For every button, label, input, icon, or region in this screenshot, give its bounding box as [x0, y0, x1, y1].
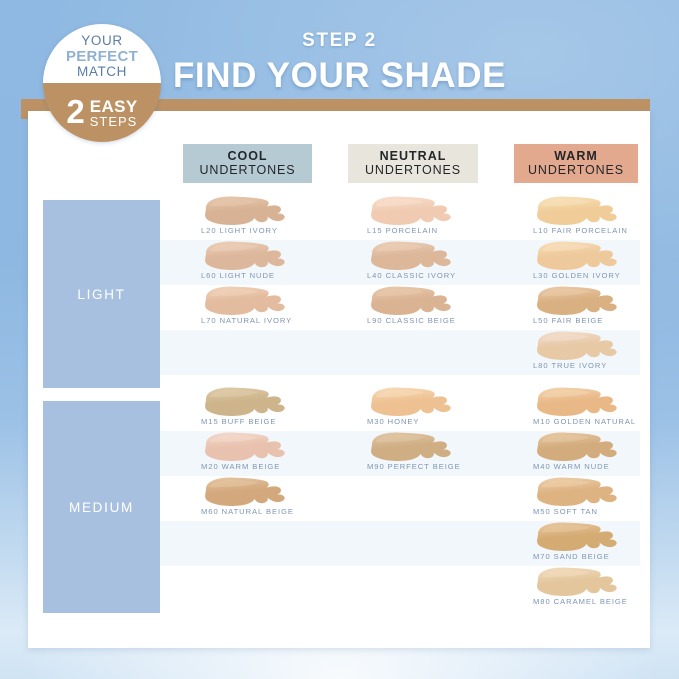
depth-label-medium: MEDIUM [69, 500, 134, 515]
shade-cell[interactable]: L20 LIGHT IVORY [160, 195, 320, 240]
shade-swatch-smear [528, 196, 624, 226]
shade-cell[interactable]: L15 PORCELAIN [326, 195, 486, 240]
shade-swatch-smear [196, 477, 292, 507]
shade-cell[interactable]: L50 FAIR BEIGE [492, 285, 652, 330]
shade-cell[interactable]: L40 CLASSIC IVORY [326, 240, 486, 285]
shade-cell[interactable]: L90 CLASSIC BEIGE [326, 285, 486, 330]
shade-name-label: M60 NATURAL BEIGE [201, 507, 351, 516]
shade-swatch-smear [196, 241, 292, 271]
shade-cell[interactable]: M80 CARAMEL BEIGE [492, 566, 652, 611]
shade-name-label: M80 CARAMEL BEIGE [533, 597, 679, 606]
shade-name-label: M40 WARM NUDE [533, 462, 679, 471]
shade-grid-medium: M15 BUFF BEIGEM30 HONEYM10 GOLDEN NATURA… [160, 386, 640, 611]
shade-swatch[interactable] [362, 241, 458, 271]
shade-swatch-smear [362, 286, 458, 316]
shade-cell[interactable]: M30 HONEY [326, 386, 486, 431]
shade-swatch-smear [196, 432, 292, 462]
shade-row: M70 SAND BEIGE [160, 521, 640, 566]
badge-top-half: YOUR PERFECT MATCH [43, 24, 161, 83]
shade-cell[interactable]: L10 FAIR PORCELAIN [492, 195, 652, 240]
shade-finder-infographic: STEP 2 FIND YOUR SHADE YOUR PERFECT MATC… [0, 0, 679, 679]
shade-row: M80 CARAMEL BEIGE [160, 566, 640, 611]
shade-cell[interactable]: M60 NATURAL BEIGE [160, 476, 320, 521]
shade-row: L60 LIGHT NUDEL40 CLASSIC IVORYL30 GOLDE… [160, 240, 640, 285]
shade-swatch[interactable] [362, 432, 458, 462]
shade-cell[interactable]: M15 BUFF BEIGE [160, 386, 320, 431]
shade-cell[interactable]: M70 SAND BEIGE [492, 521, 652, 566]
shade-swatch[interactable] [196, 241, 292, 271]
shade-swatch[interactable] [528, 477, 624, 507]
shade-swatch[interactable] [196, 286, 292, 316]
shade-cell[interactable]: M90 PERFECT BEIGE [326, 431, 486, 476]
shade-swatch[interactable] [362, 196, 458, 226]
shade-swatch[interactable] [528, 196, 624, 226]
shade-swatch-smear [196, 286, 292, 316]
shade-row: L70 NATURAL IVORYL90 CLASSIC BEIGEL50 FA… [160, 285, 640, 330]
shade-cell[interactable]: M40 WARM NUDE [492, 431, 652, 476]
shade-cell[interactable]: L60 LIGHT NUDE [160, 240, 320, 285]
shade-swatch[interactable] [528, 331, 624, 361]
shade-swatch-smear [362, 196, 458, 226]
shade-swatch-smear [528, 387, 624, 417]
shade-swatch-smear [196, 387, 292, 417]
shade-row: M20 WARM BEIGEM90 PERFECT BEIGEM40 WARM … [160, 431, 640, 476]
depth-block-medium: MEDIUM [43, 401, 160, 613]
badge-step-count: 2 [66, 95, 84, 128]
shade-swatch-smear [528, 567, 624, 597]
shade-swatch[interactable] [528, 387, 624, 417]
depth-label-light: LIGHT [77, 287, 125, 302]
shade-swatch[interactable] [528, 432, 624, 462]
badge-bottom-half: 2 EASY STEPS [43, 83, 161, 142]
shade-row: M60 NATURAL BEIGEM50 SOFT TAN [160, 476, 640, 521]
shade-name-label: M50 SOFT TAN [533, 507, 679, 516]
column-header-cool-sub: UNDERTONES [199, 164, 295, 177]
shade-name-label: L50 FAIR BEIGE [533, 316, 679, 325]
shade-swatch[interactable] [362, 286, 458, 316]
badge-line-your: YOUR [81, 34, 122, 48]
shade-name-label: M10 GOLDEN NATURAL [533, 417, 679, 426]
column-header-warm-sub: UNDERTONES [528, 164, 624, 177]
shade-cell[interactable]: M10 GOLDEN NATURAL [492, 386, 652, 431]
shade-swatch-smear [528, 331, 624, 361]
shade-cell[interactable]: L70 NATURAL IVORY [160, 285, 320, 330]
column-header-neutral-sub: UNDERTONES [365, 164, 461, 177]
column-header-neutral-name: NEUTRAL [380, 150, 447, 163]
shade-swatch[interactable] [362, 387, 458, 417]
shade-swatch[interactable] [196, 196, 292, 226]
shade-swatch[interactable] [528, 286, 624, 316]
column-header-cool-name: COOL [227, 150, 267, 163]
badge-easy-label: EASY [90, 98, 138, 115]
shade-swatch[interactable] [528, 567, 624, 597]
shade-swatch-smear [528, 477, 624, 507]
shade-cell[interactable]: M50 SOFT TAN [492, 476, 652, 521]
shade-swatch[interactable] [196, 432, 292, 462]
shade-swatch-smear [362, 387, 458, 417]
perfect-match-badge: YOUR PERFECT MATCH 2 EASY STEPS [43, 24, 161, 142]
badge-line-match: MATCH [77, 65, 127, 79]
depth-block-light: LIGHT [43, 200, 160, 388]
shade-cell[interactable]: L30 GOLDEN IVORY [492, 240, 652, 285]
shade-swatch-smear [362, 432, 458, 462]
shade-grid-light: L20 LIGHT IVORYL15 PORCELAINL10 FAIR POR… [160, 195, 640, 375]
shade-swatch-smear [528, 432, 624, 462]
shade-swatch-smear [528, 286, 624, 316]
column-header-warm-name: WARM [554, 150, 598, 163]
shade-swatch-smear [528, 241, 624, 271]
shade-swatch[interactable] [528, 241, 624, 271]
shade-swatch[interactable] [196, 477, 292, 507]
shade-swatch-smear [362, 241, 458, 271]
column-header-cool: COOL UNDERTONES [183, 144, 312, 183]
shade-cell[interactable]: L80 TRUE IVORY [492, 330, 652, 375]
shade-row: L80 TRUE IVORY [160, 330, 640, 375]
column-header-neutral: NEUTRAL UNDERTONES [348, 144, 478, 183]
shade-cell[interactable]: M20 WARM BEIGE [160, 431, 320, 476]
shade-row: L20 LIGHT IVORYL15 PORCELAINL10 FAIR POR… [160, 195, 640, 240]
shade-name-label: L10 FAIR PORCELAIN [533, 226, 679, 235]
shade-swatch-smear [196, 196, 292, 226]
shade-name-label: L30 GOLDEN IVORY [533, 271, 679, 280]
shade-row: M15 BUFF BEIGEM30 HONEYM10 GOLDEN NATURA… [160, 386, 640, 431]
badge-line-perfect: PERFECT [66, 49, 138, 64]
shade-swatch[interactable] [528, 522, 624, 552]
shade-swatch-smear [528, 522, 624, 552]
shade-name-label: M70 SAND BEIGE [533, 552, 679, 561]
badge-steps-label: STEPS [90, 115, 138, 128]
shade-swatch[interactable] [196, 387, 292, 417]
shade-name-label: L80 TRUE IVORY [533, 361, 679, 370]
column-header-warm: WARM UNDERTONES [514, 144, 638, 183]
